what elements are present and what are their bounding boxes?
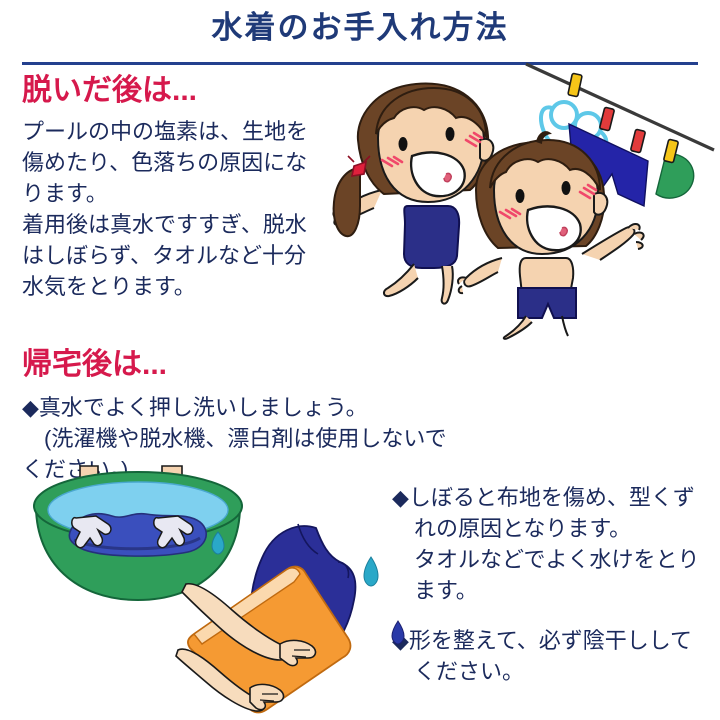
section-heading-after-home: 帰宅後は...	[22, 350, 167, 380]
girl-pigtail	[334, 168, 360, 236]
section-body-shade-dry: ◆形を整えて、必ず陰干しして ください。	[392, 625, 712, 687]
swimwear-care-poster: 水着のお手入れ方法 脱いだ後は... プールの中の塩素は、生地を 傷めたり、色落…	[0, 0, 720, 720]
girl-eye-left	[399, 137, 408, 151]
boy-trunks	[518, 288, 576, 318]
title-block: 水着のお手入れ方法	[0, 10, 720, 46]
boy-eye-left	[516, 189, 525, 203]
water-droplet-2	[364, 557, 378, 586]
page-title: 水着のお手入れ方法	[0, 10, 720, 46]
swim-cap-hanging	[656, 154, 694, 198]
boy-figure	[458, 131, 644, 339]
girl-eye-right	[446, 127, 455, 141]
section-body-wring-warning: ◆しぼると布地を傷め、型くず れの原因となります。 タオルなどでよく水けをとり …	[392, 482, 712, 606]
towel-illustration	[178, 518, 404, 720]
water-droplet-3	[392, 621, 404, 644]
children-illustration	[330, 78, 660, 338]
section-body-after-removal: プールの中の塩素は、生地を 傷めたり、色落ちの原因にな ります。 着用後は真水で…	[22, 116, 362, 302]
boy-eye-right	[562, 181, 571, 195]
girl-swimsuit	[404, 206, 459, 268]
water-droplet-1	[212, 532, 224, 554]
section-heading-after-removal: 脱いだ後は...	[22, 76, 197, 106]
